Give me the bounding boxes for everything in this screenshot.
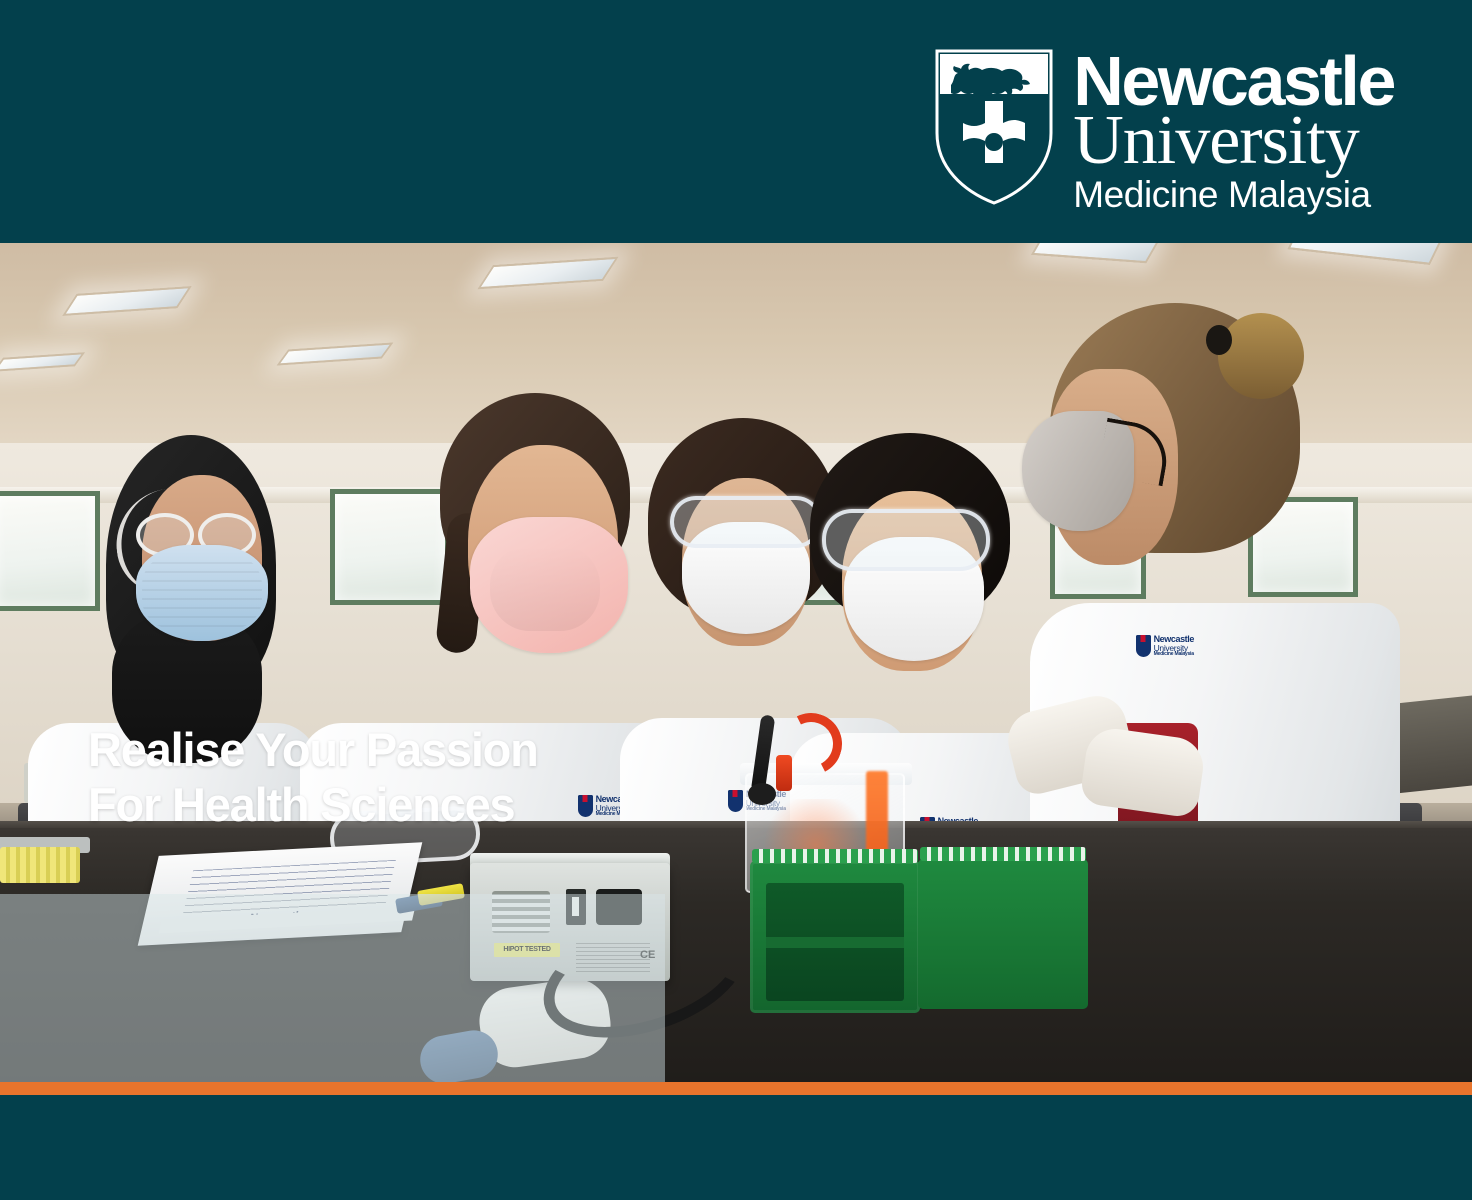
coat-crest-shield-icon [1136,635,1151,657]
coat-crest-shield-icon [728,790,743,812]
coat-crest-logo: Newcastle University Medicine Malaysia [1136,633,1194,659]
brand-header: Newcastle University Medicine Malaysia [0,0,1472,243]
coat-logo-line3: Medicine Malaysia [1154,652,1194,657]
orange-divider-bar [0,1082,1472,1095]
mask-fold [490,545,600,631]
safety-goggles [822,509,990,571]
newcastle-university-crest-icon [933,47,1055,207]
gel-casting-stand-right [918,859,1088,1009]
wordmark: Newcastle University Medicine Malaysia [1073,47,1394,212]
gel-comb-left [752,849,918,863]
headline-overlay-panel [0,894,665,1082]
poster-canvas: Newcastle University Medicine Malaysia [0,0,1472,1200]
poster-footer [0,1095,1472,1200]
wordmark-medicine-malaysia: Medicine Malaysia [1073,178,1394,212]
pipette-tip-box [0,847,80,883]
hero-headline: Realise Your Passion For Health Sciences [88,723,648,832]
black-electrode-cap [748,783,776,805]
mask-pleats [142,555,262,629]
gel-comb-right [920,847,1086,861]
headline-line-2: For Health Sciences [88,778,648,833]
newcastle-university-logo-lockup: Newcastle University Medicine Malaysia [933,47,1394,212]
hero-photograph: Newcastle University Medicine Malaysia N… [0,243,1472,1082]
hair-tie [1206,325,1232,355]
hair-bun [1218,313,1304,399]
gel-casting-stand-left-shelf [766,937,904,948]
wordmark-university: University [1073,109,1394,173]
headline-line-1: Realise Your Passion [88,723,648,778]
